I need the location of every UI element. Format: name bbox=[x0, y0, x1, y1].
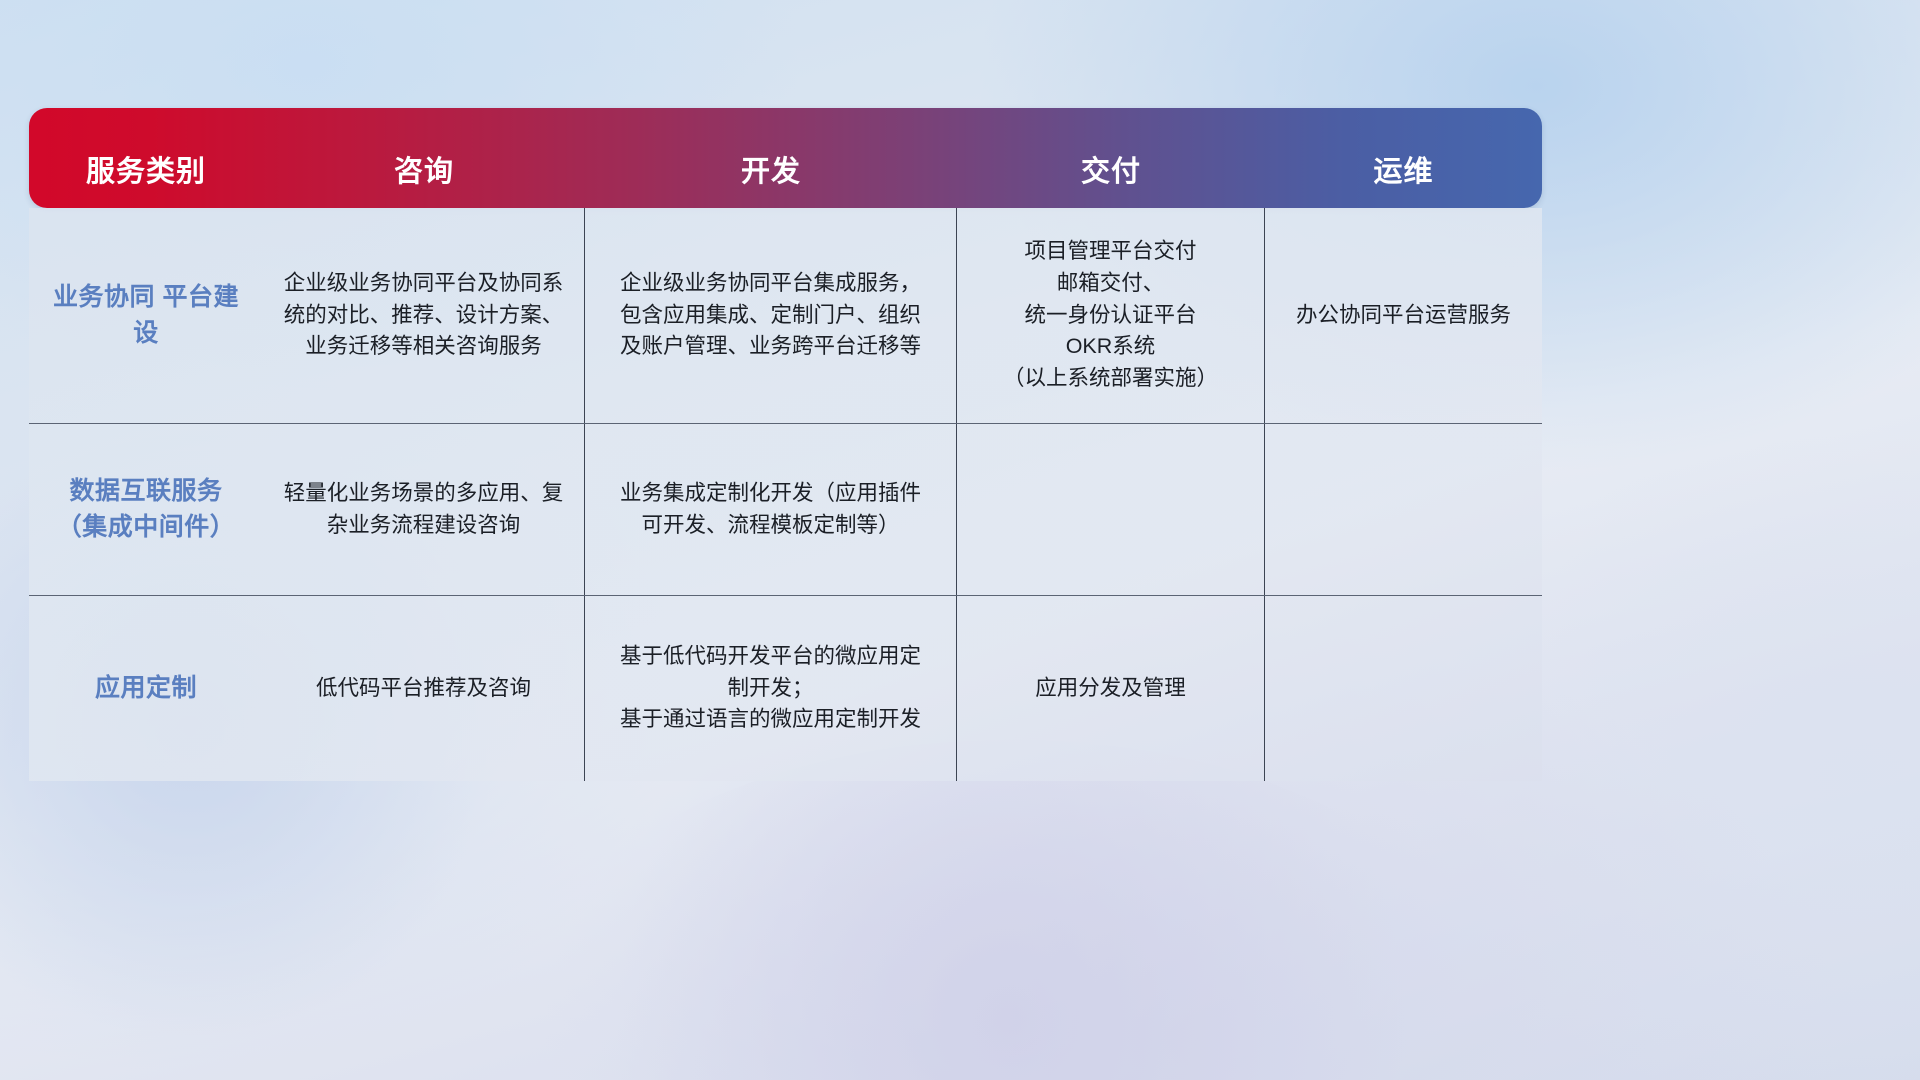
cell-text: 办公协同平台运营服务 bbox=[1296, 300, 1511, 332]
cell-operations bbox=[1265, 424, 1542, 595]
cell-text: 低代码平台推荐及咨询 bbox=[316, 673, 531, 705]
column-header-development: 开发 bbox=[585, 148, 957, 208]
column-header-category: 服务类别 bbox=[29, 148, 263, 208]
table-body: 业务协同 平台建设 企业级业务协同平台及协同系 统的对比、推荐、设计方案、 业务… bbox=[29, 208, 1542, 781]
cell-operations: 办公协同平台运营服务 bbox=[1265, 208, 1542, 423]
cell-text: 企业级业务协同平台及协同系 统的对比、推荐、设计方案、 业务迁移等相关咨询服务 bbox=[284, 268, 564, 363]
service-matrix-table: 服务类别 咨询 开发 交付 运维 业务协同 平台建设 企业级业务协同平台及协同系… bbox=[29, 108, 1542, 781]
cell-delivery bbox=[957, 424, 1265, 595]
cell-development: 基于低代码开发平台的微应用定 制开发； 基于通过语言的微应用定制开发 bbox=[585, 596, 957, 781]
cell-operations bbox=[1265, 596, 1542, 781]
table-row: 业务协同 平台建设 企业级业务协同平台及协同系 统的对比、推荐、设计方案、 业务… bbox=[29, 208, 1542, 424]
table-row: 应用定制 低代码平台推荐及咨询 基于低代码开发平台的微应用定 制开发； 基于通过… bbox=[29, 596, 1542, 781]
row-category-label: 数据互联服务 （集成中间件） bbox=[29, 424, 263, 595]
cell-text: 企业级业务协同平台集成服务， 包含应用集成、定制门户、组织 及账户管理、业务跨平… bbox=[620, 268, 921, 363]
cell-text: 项目管理平台交付 邮箱交付、 统一身份认证平台 OKR系统 （以上系统部署实施） bbox=[1003, 236, 1218, 395]
cell-text: 轻量化业务场景的多应用、复 杂业务流程建设咨询 bbox=[284, 478, 564, 542]
cell-consulting: 轻量化业务场景的多应用、复 杂业务流程建设咨询 bbox=[263, 424, 585, 595]
column-header-consulting: 咨询 bbox=[263, 148, 585, 208]
background-glow-bottom bbox=[520, 740, 1500, 1080]
cell-text: 应用分发及管理 bbox=[1035, 673, 1186, 705]
column-header-delivery: 交付 bbox=[957, 148, 1265, 208]
cell-consulting: 低代码平台推荐及咨询 bbox=[263, 596, 585, 781]
table-row: 数据互联服务 （集成中间件） 轻量化业务场景的多应用、复 杂业务流程建设咨询 业… bbox=[29, 424, 1542, 596]
column-header-operations: 运维 bbox=[1265, 148, 1542, 208]
cell-consulting: 企业级业务协同平台及协同系 统的对比、推荐、设计方案、 业务迁移等相关咨询服务 bbox=[263, 208, 585, 423]
cell-text: 业务集成定制化开发（应用插件 可开发、流程模板定制等） bbox=[620, 478, 921, 542]
cell-delivery: 项目管理平台交付 邮箱交付、 统一身份认证平台 OKR系统 （以上系统部署实施） bbox=[957, 208, 1265, 423]
cell-development: 企业级业务协同平台集成服务， 包含应用集成、定制门户、组织 及账户管理、业务跨平… bbox=[585, 208, 957, 423]
table-header-row: 服务类别 咨询 开发 交付 运维 bbox=[29, 108, 1542, 208]
row-category-label: 应用定制 bbox=[29, 596, 263, 781]
cell-delivery: 应用分发及管理 bbox=[957, 596, 1265, 781]
row-category-label: 业务协同 平台建设 bbox=[29, 208, 263, 423]
cell-text: 基于低代码开发平台的微应用定 制开发； 基于通过语言的微应用定制开发 bbox=[620, 641, 921, 736]
cell-development: 业务集成定制化开发（应用插件 可开发、流程模板定制等） bbox=[585, 424, 957, 595]
